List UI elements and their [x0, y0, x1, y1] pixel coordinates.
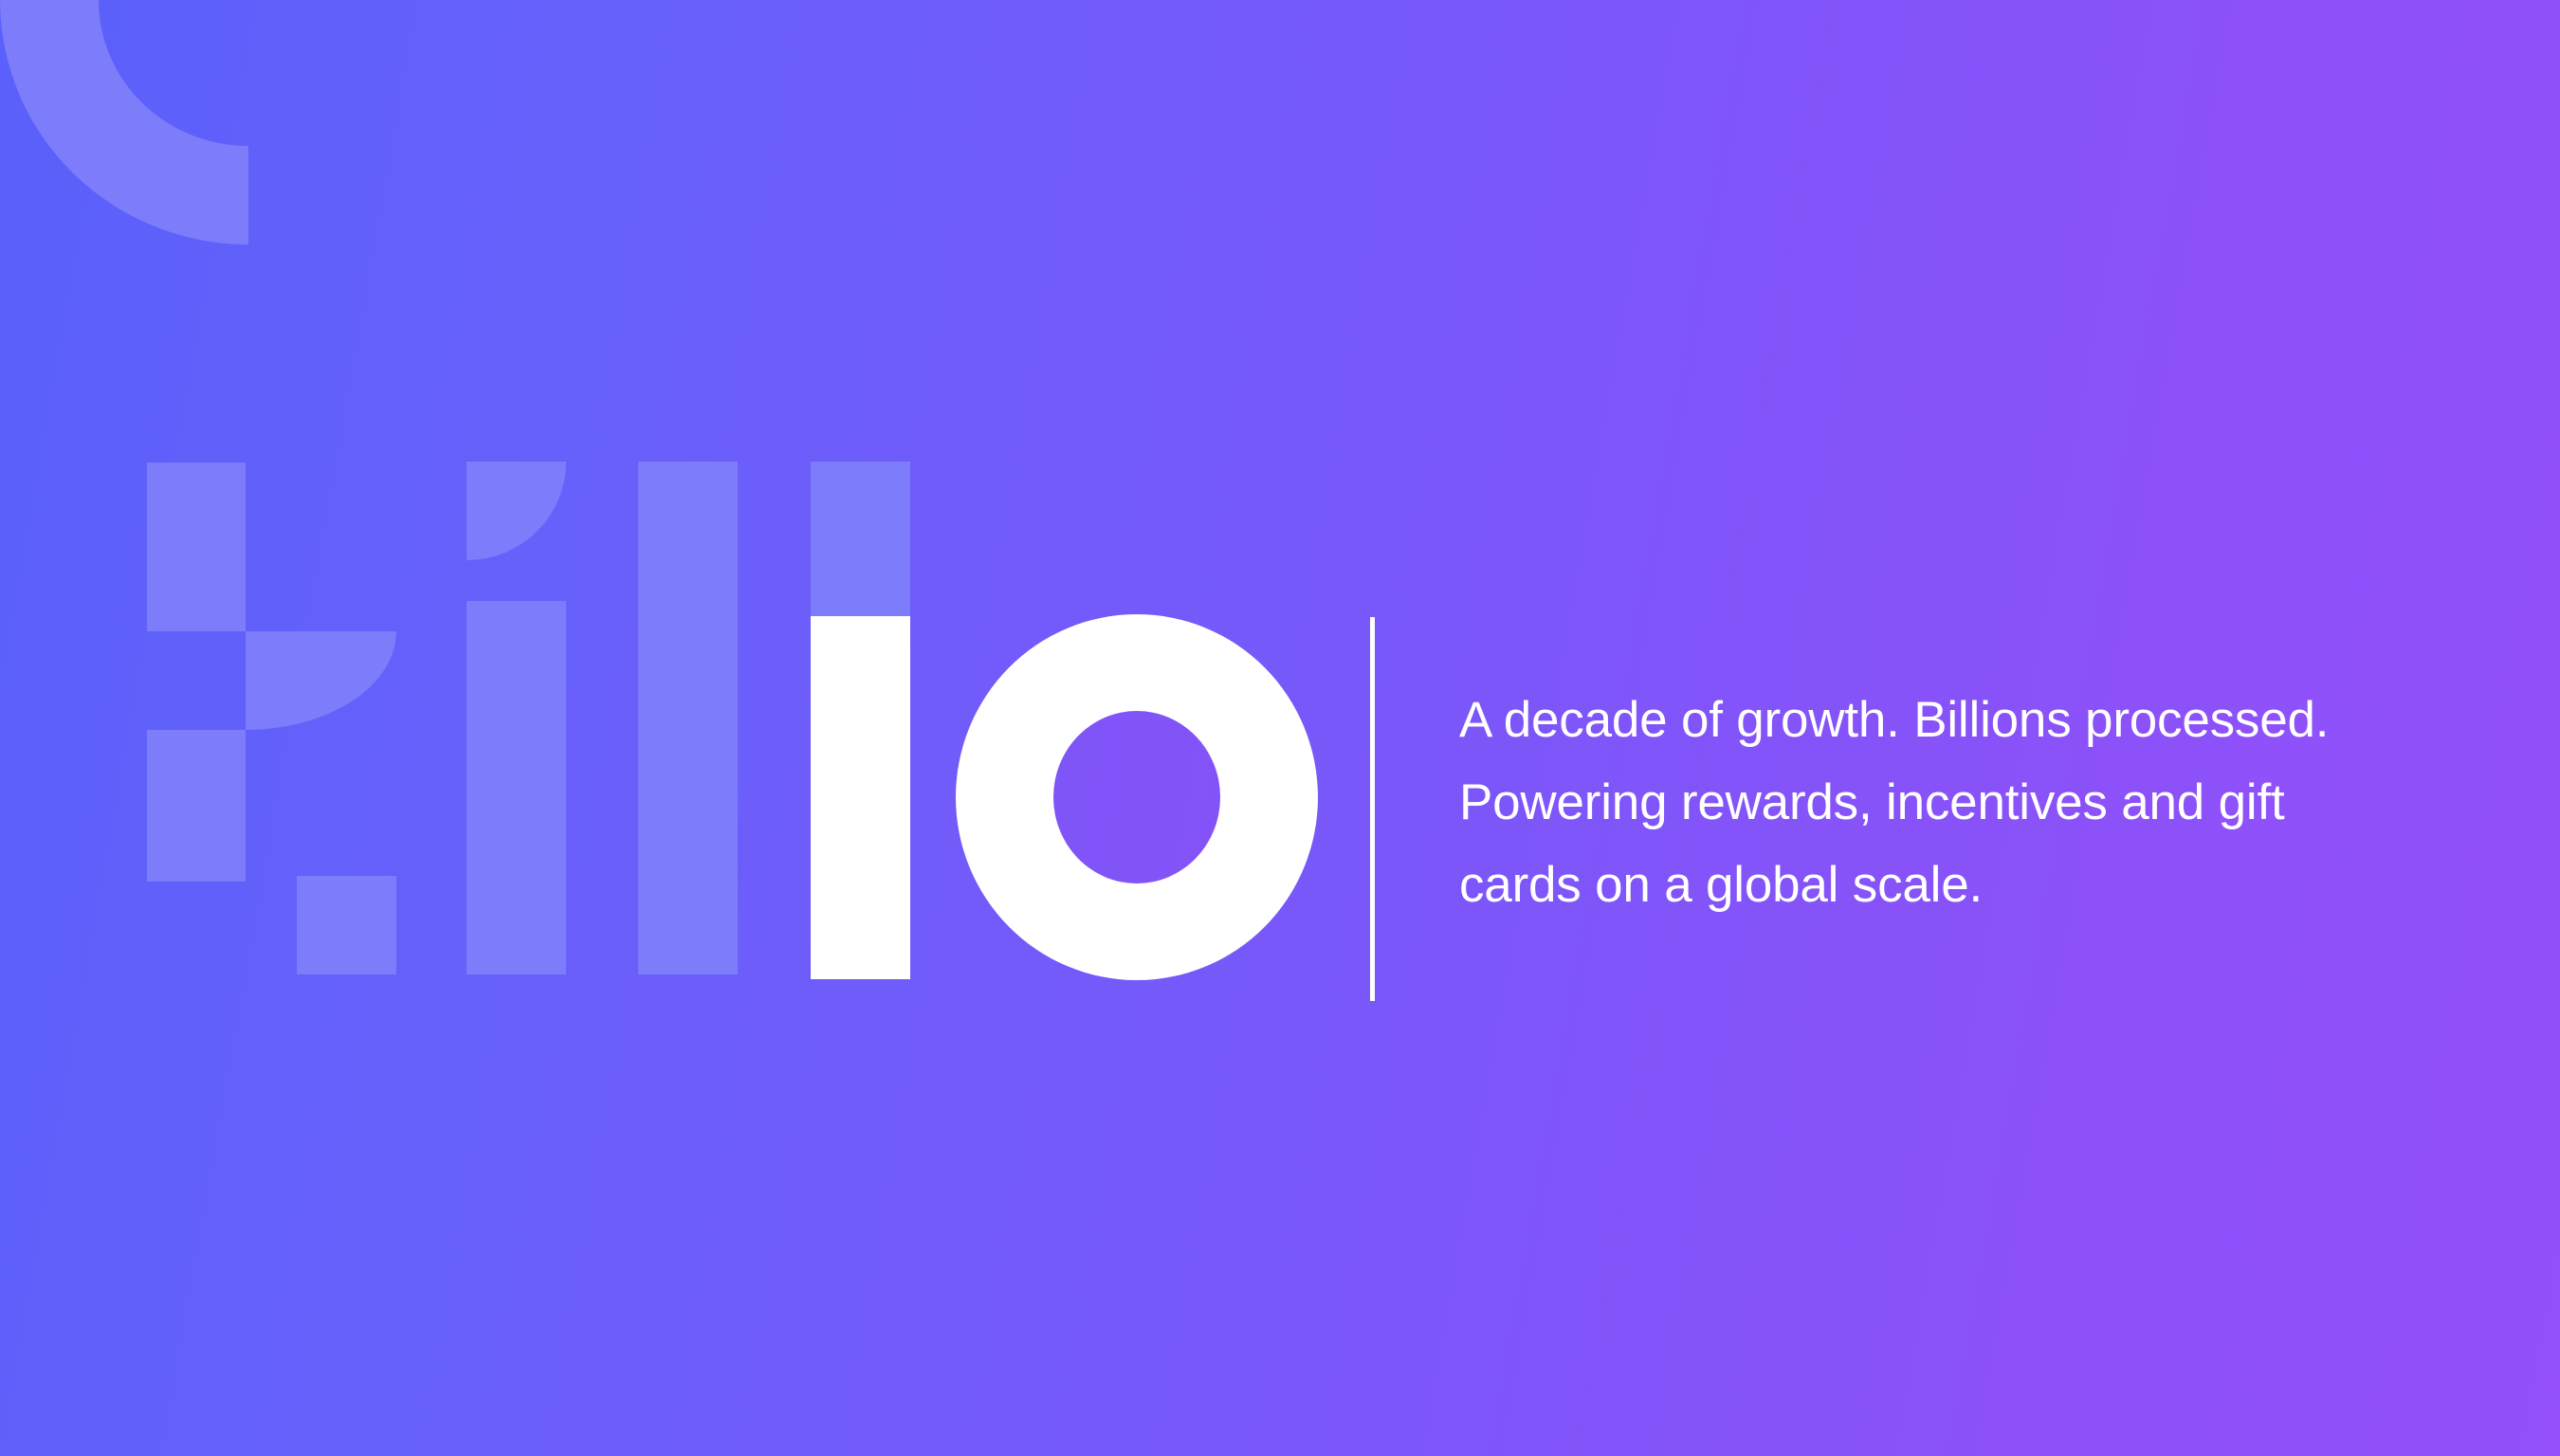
tillo-logo-icon	[0, 0, 1375, 1456]
wordmark-letter-o-counter-icon	[1053, 711, 1220, 883]
banner-canvas: A decade of growth. Billions processed. …	[0, 0, 2560, 1456]
wordmark-letter-l-icon	[811, 616, 910, 979]
vertical-divider-icon	[1370, 617, 1375, 1001]
wordmark-letter-o-icon	[956, 614, 1318, 980]
tagline-line-3: cards on a global scale.	[1459, 844, 2464, 926]
tagline-line-2: Powering rewards, incentives and gift	[1459, 761, 2464, 844]
tagline-line-1: A decade of growth. Billions processed.	[1459, 679, 2464, 761]
tagline: A decade of growth. Billions processed. …	[1459, 679, 2464, 926]
